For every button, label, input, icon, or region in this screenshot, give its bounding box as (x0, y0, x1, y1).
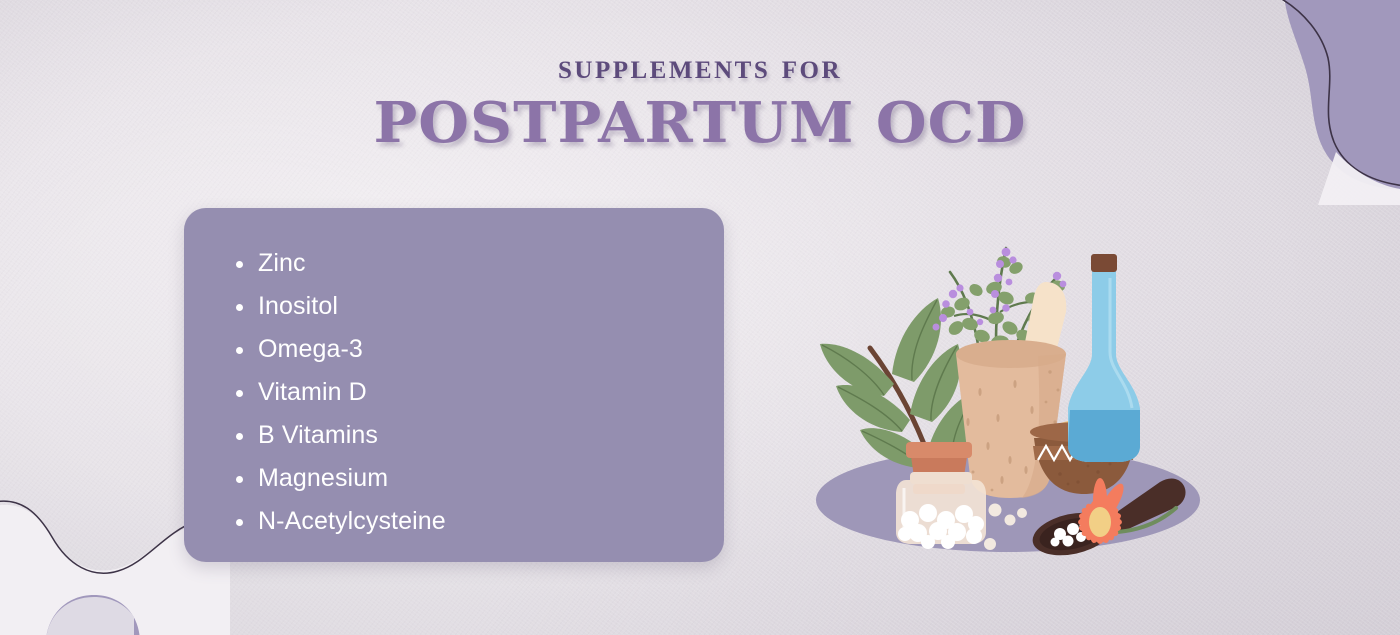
list-item: Magnesium (258, 457, 724, 500)
supplements-list: Zinc Inositol Omega-3 Vitamin D B Vitami… (184, 208, 724, 543)
list-item-label: B Vitamins (258, 421, 378, 449)
deco-grey-shape-bl (46, 597, 134, 635)
title-line-1: Supplements For (0, 48, 1400, 84)
list-item: Omega-3 (258, 328, 724, 371)
list-item-label: Zinc (258, 249, 306, 277)
list-item: Vitamin D (258, 371, 724, 414)
pot-rim (906, 442, 972, 458)
poster-canvas: Supplements For POSTPARTUM OCD Zinc Inos… (0, 0, 1400, 635)
list-item: B Vitamins (258, 414, 724, 457)
blue-bottle (1068, 254, 1140, 462)
bottle-liquid (1068, 410, 1140, 462)
list-item-label: Magnesium (258, 464, 388, 492)
deco-white-shape-tr-2 (1318, 152, 1400, 205)
bottle-cork (1091, 254, 1117, 272)
bullet-icon (236, 476, 243, 483)
bullet-icon (236, 261, 243, 268)
list-item-label: Vitamin D (258, 378, 367, 406)
bullet-icon (236, 519, 243, 526)
list-item: Zinc (258, 242, 724, 285)
title-block: Supplements For POSTPARTUM OCD (0, 48, 1400, 153)
deco-line-bl (0, 501, 196, 573)
title-line-2: POSTPARTUM OCD (0, 94, 1400, 153)
list-item: N-Acetylcysteine (258, 500, 724, 543)
list-item: Inositol (258, 285, 724, 328)
list-item-label: N-Acetylcysteine (258, 507, 446, 535)
jar-neck (910, 472, 972, 484)
bullet-icon (236, 390, 243, 397)
flower-center (1089, 507, 1111, 537)
herbal-supplements-illustration (810, 232, 1220, 567)
bullet-icon (236, 347, 243, 354)
supplements-card: Zinc Inositol Omega-3 Vitamin D B Vitami… (184, 208, 724, 562)
list-item-label: Omega-3 (258, 335, 363, 363)
glass-pill-jar (896, 472, 986, 549)
bullet-icon (236, 304, 243, 311)
list-item-label: Inositol (258, 292, 338, 320)
bullet-icon (236, 433, 243, 440)
